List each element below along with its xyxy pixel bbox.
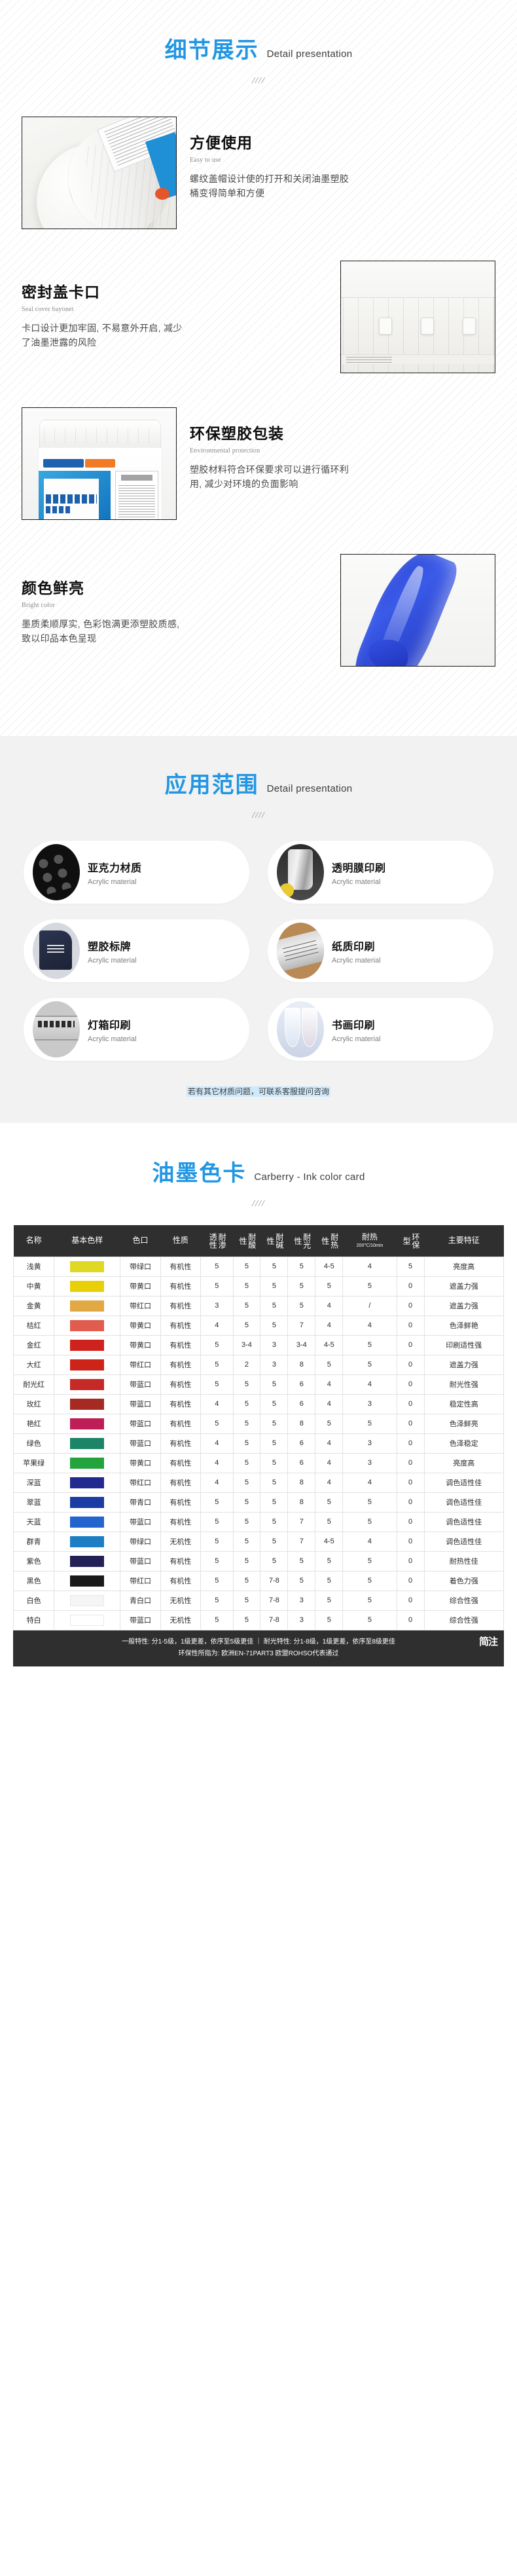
table-cell: 5 [343, 1276, 397, 1296]
table-cell: 0 [397, 1316, 424, 1335]
table-col-header: 主要特征 [424, 1225, 503, 1257]
table-cell: / [343, 1296, 397, 1316]
table-col-header: 耐光性 [288, 1225, 315, 1257]
application-contact-note-text: 若有其它材质问题，可联系客服提问咨询 [187, 1086, 330, 1097]
table-cell: 带红口 [120, 1571, 160, 1591]
table-cell: 7-8 [260, 1591, 288, 1610]
main-feature-cell: 耐热性佳 [424, 1551, 503, 1571]
table-cell: 4 [315, 1473, 343, 1492]
table-cell: 5 [233, 1394, 260, 1414]
color-name-cell: 紫色 [14, 1551, 54, 1571]
table-col-header: 耐酸性 [233, 1225, 260, 1257]
table-cell: 0 [397, 1394, 424, 1414]
table-cell: 8 [288, 1355, 315, 1374]
color-swatch [70, 1575, 104, 1587]
table-cell: 5 [233, 1414, 260, 1433]
table-col-header: 基本色样 [54, 1225, 120, 1257]
color-swatch [70, 1379, 104, 1390]
color-swatch [70, 1359, 104, 1371]
table-row: 浅黄带绿口有机性55554-545亮度高 [14, 1257, 504, 1276]
ink-color-table: 名称基本色样色口性质耐渗透性耐酸性耐碱性耐光性耐热性耐热200℃/10min环保… [13, 1225, 504, 1630]
footnote-line-2: 环保性所指为: 欧洲EN-71PART3 欧盟ROHSO代表通过 [17, 1648, 500, 1660]
table-cell: 4-5 [315, 1335, 343, 1355]
table-col-header: 耐热性 [315, 1225, 343, 1257]
table-cell: 5 [315, 1355, 343, 1374]
table-cell: 有机性 [160, 1414, 200, 1433]
table-row: 翠蓝带青口有机性5558550调色适性佳 [14, 1492, 504, 1512]
table-cell: 3 [343, 1394, 397, 1414]
table-cell: 带黄口 [120, 1276, 160, 1296]
table-row: 深蓝带红口有机性4558440调色适性佳 [14, 1473, 504, 1492]
color-name-cell: 大红 [14, 1355, 54, 1374]
table-cell: 5 [315, 1276, 343, 1296]
main-feature-cell: 耐光性强 [424, 1374, 503, 1394]
ink-color-table-head: 名称基本色样色口性质耐渗透性耐酸性耐碱性耐光性耐热性耐热200℃/10min环保… [14, 1225, 504, 1257]
table-cell: 5 [233, 1296, 260, 1316]
table-cell: 5 [288, 1571, 315, 1591]
color-swatch [70, 1399, 104, 1410]
table-cell: 5 [233, 1492, 260, 1512]
table-cell: 0 [397, 1276, 424, 1296]
table-cell: 带红口 [120, 1473, 160, 1492]
card-title-en: Acrylic material [88, 878, 142, 886]
table-col-header: 名称 [14, 1225, 54, 1257]
table-cell: 0 [397, 1551, 424, 1571]
table-cell: 5 [201, 1492, 233, 1512]
main-feature-cell: 稳定性高 [424, 1394, 503, 1414]
card-title-en: Acrylic material [332, 878, 386, 886]
table-cell: 8 [288, 1492, 315, 1512]
blue-ink-stroke-photo [340, 554, 495, 667]
table-row: 紫色带蓝口有机性5555550耐热性佳 [14, 1551, 504, 1571]
color-name-cell: 翠蓝 [14, 1492, 54, 1512]
table-cell: 5 [260, 1276, 288, 1296]
table-cell: 5 [260, 1257, 288, 1276]
carpoly-ink-bucket-photo [22, 407, 177, 520]
table-cell: 4 [315, 1394, 343, 1414]
color-name-cell: 中黄 [14, 1276, 54, 1296]
table-cell: 5 [233, 1257, 260, 1276]
table-cell: 4 [343, 1473, 397, 1492]
apply-section-header: 应用范围 Detail presentation //// [0, 774, 517, 821]
table-row: 金红带黄口有机性53-433-44-550印刷适性强 [14, 1335, 504, 1355]
table-cell: 3 [343, 1453, 397, 1473]
white-screw-lid-photo [22, 117, 177, 229]
table-cell: 5 [315, 1492, 343, 1512]
main-feature-cell: 遮盖力强 [424, 1355, 503, 1374]
colorcard-slash-ornament: //// [0, 1199, 517, 1209]
acrylic-keypad-thumb [33, 844, 80, 900]
card-title-cn: 纸质印刷 [332, 938, 381, 953]
color-name-cell: 金黄 [14, 1296, 54, 1316]
table-cell: 有机性 [160, 1551, 200, 1571]
table-row: 玫红带蓝口有机性4556430稳定性高 [14, 1394, 504, 1414]
table-cell: 5 [233, 1571, 260, 1591]
main-feature-cell: 亮度高 [424, 1257, 503, 1276]
table-cell: 5 [343, 1492, 397, 1512]
color-swatch-cell [54, 1492, 120, 1512]
table-cell: 带蓝口 [120, 1610, 160, 1630]
table-cell: 有机性 [160, 1276, 200, 1296]
table-cell: 4 [343, 1532, 397, 1551]
table-cell: 5 [260, 1453, 288, 1473]
color-swatch-cell [54, 1296, 120, 1316]
table-cell: 0 [397, 1512, 424, 1532]
apply-slash-ornament: //// [0, 811, 517, 821]
table-cell: 4 [315, 1453, 343, 1473]
color-name-cell: 艳红 [14, 1414, 54, 1433]
table-cell: 6 [288, 1453, 315, 1473]
table-cell: 4 [315, 1433, 343, 1453]
table-row: 群青带绿口无机性55574-540调色适性佳 [14, 1532, 504, 1551]
table-cell: 5 [233, 1433, 260, 1453]
table-cell: 有机性 [160, 1355, 200, 1374]
detail-presentation-section: 细节展示 Detail presentation //// 方便使用 Easy … [0, 0, 517, 736]
detail-item-title-cn: 方便使用 [190, 135, 495, 151]
table-cell: 5 [260, 1512, 288, 1532]
table-cell: 带红口 [120, 1296, 160, 1316]
table-cell: 5 [343, 1414, 397, 1433]
table-cell: 3-4 [233, 1335, 260, 1355]
table-cell: 5 [288, 1257, 315, 1276]
table-cell: 5 [201, 1512, 233, 1532]
application-card-transparent-film-printing[interactable]: 透明膜印刷 Acrylic material [268, 841, 493, 904]
table-cell: 带蓝口 [120, 1433, 160, 1453]
table-cell: 5 [233, 1551, 260, 1571]
color-swatch [70, 1458, 104, 1469]
color-swatch-cell [54, 1414, 120, 1433]
table-cell: 7-8 [260, 1571, 288, 1591]
table-cell: 0 [397, 1571, 424, 1591]
table-cell: 4 [201, 1433, 233, 1453]
table-cell: 4 [201, 1453, 233, 1473]
table-cell: 3 [260, 1335, 288, 1355]
detail-item-title-en: Easy to use [190, 156, 495, 164]
detail-item-easy-to-use: 方便使用 Easy to use 螺纹盖帽设计使的打开和关闭油墨塑胶桶变得简单和… [0, 117, 517, 229]
table-cell: 带蓝口 [120, 1414, 160, 1433]
table-cell: 5 [201, 1335, 233, 1355]
table-cell: 4 [343, 1374, 397, 1394]
color-name-cell: 群青 [14, 1532, 54, 1551]
table-row: 黑色带红口有机性557-85550着色力强 [14, 1571, 504, 1591]
table-col-header-subnote: 200℃/10min [344, 1243, 396, 1249]
table-cell: 5 [201, 1276, 233, 1296]
table-cell: 5 [233, 1276, 260, 1296]
colorcard-section-header: 油墨色卡 Carberry - Ink color card //// [0, 1162, 517, 1209]
card-title-en: Acrylic material [88, 957, 137, 965]
table-cell: 5 [201, 1571, 233, 1591]
detail-item-body: 塑胶材料符合环保要求可以进行循环利用, 减少对环境的负面影响 [190, 463, 357, 491]
table-cell: 带青口 [120, 1492, 160, 1512]
detail-item-title-cn: 密封盖卡口 [22, 284, 327, 301]
table-cell: 5 [233, 1453, 260, 1473]
table-row: 苹果绿带黄口有机性4556430亮度高 [14, 1453, 504, 1473]
detail-item-bright-color: 颜色鲜亮 Bright color 墨质柔顺厚实, 色彩饱满更添塑胶质感, 致以… [0, 554, 517, 667]
card-title-cn: 透明膜印刷 [332, 859, 386, 875]
table-cell: 5 [343, 1571, 397, 1591]
color-name-cell: 桔红 [14, 1316, 54, 1335]
table-cell: 0 [397, 1492, 424, 1512]
table-cell: 有机性 [160, 1257, 200, 1276]
table-cell: 8 [288, 1473, 315, 1492]
table-cell: 0 [397, 1591, 424, 1610]
main-feature-cell: 色泽鲜艳 [424, 1316, 503, 1335]
table-cell: 0 [397, 1453, 424, 1473]
color-name-cell: 玫红 [14, 1394, 54, 1414]
table-col-header: 耐碱性 [260, 1225, 288, 1257]
table-cell: 5 [397, 1257, 424, 1276]
table-cell: 5 [288, 1551, 315, 1571]
table-cell: 0 [397, 1610, 424, 1630]
main-feature-cell: 印刷适性强 [424, 1335, 503, 1355]
table-row: 绿色带蓝口有机性4556430色泽稳定 [14, 1433, 504, 1453]
main-feature-cell: 综合性强 [424, 1591, 503, 1610]
table-row: 金黄带红口有机性35554/0遮盖力强 [14, 1296, 504, 1316]
detail-item-title-en: Seal cover bayonet [22, 306, 327, 313]
card-title-cn: 书画印刷 [332, 1016, 381, 1032]
color-name-cell: 浅黄 [14, 1257, 54, 1276]
color-swatch [70, 1340, 104, 1351]
color-swatch-cell [54, 1316, 120, 1335]
table-cell: 6 [288, 1394, 315, 1414]
table-cell: 5 [260, 1414, 288, 1433]
table-cell: 5 [201, 1610, 233, 1630]
table-cell: 3 [201, 1296, 233, 1316]
table-cell: 5 [343, 1551, 397, 1571]
detail-item-title-cn: 颜色鲜亮 [22, 580, 327, 597]
steel-tumbler-thumb [277, 844, 324, 900]
table-cell: 5 [343, 1355, 397, 1374]
table-cell: 带蓝口 [120, 1512, 160, 1532]
table-cell: 5 [233, 1512, 260, 1532]
table-row: 中黄带黄口有机性5555550遮盖力强 [14, 1276, 504, 1296]
footnote-line-1: 一般特性: 分1-5级，1级更差，依序至5级更佳 ｜ 耐光特性: 分1-8级，1… [17, 1636, 500, 1648]
application-card-acrylic-material[interactable]: 亚克力材质 Acrylic material [24, 841, 249, 904]
table-cell: 青白口 [120, 1591, 160, 1610]
table-cell: 5 [315, 1571, 343, 1591]
ink-color-table-wrap: 名称基本色样色口性质耐渗透性耐酸性耐碱性耐光性耐热性耐热200℃/10min环保… [0, 1225, 517, 1681]
table-cell: 有机性 [160, 1335, 200, 1355]
main-feature-cell: 调色适性佳 [424, 1532, 503, 1551]
ink-color-table-body: 浅黄带绿口有机性55554-545亮度高中黄带黄口有机性5555550遮盖力强金… [14, 1257, 504, 1630]
table-cell: 5 [233, 1532, 260, 1551]
application-card-lightbox-printing[interactable]: 灯箱印刷 Acrylic material [24, 998, 249, 1061]
detail-item-body: 墨质柔顺厚实, 色彩饱满更添塑胶质感, 致以印品本色呈现 [22, 617, 188, 646]
table-cell: 5 [260, 1394, 288, 1414]
detail-item-body: 螺纹盖帽设计使的打开和关闭油墨塑胶桶变得简单和方便 [190, 172, 357, 200]
table-cell: 5 [260, 1492, 288, 1512]
table-cell: 5 [343, 1610, 397, 1630]
main-feature-cell: 亮度高 [424, 1453, 503, 1473]
table-cell: 5 [201, 1257, 233, 1276]
color-swatch [70, 1438, 104, 1449]
table-cell: 5 [288, 1296, 315, 1316]
table-cell: 7 [288, 1316, 315, 1335]
table-cell: 5 [315, 1551, 343, 1571]
color-swatch [70, 1517, 104, 1528]
color-swatch-cell [54, 1512, 120, 1532]
color-swatch [70, 1497, 104, 1508]
detail-section-header: 细节展示 Detail presentation //// [0, 39, 517, 86]
table-row: 艳红带蓝口有机性5558550色泽鲜亮 [14, 1414, 504, 1433]
table-col-header: 耐热200℃/10min [343, 1225, 397, 1257]
table-cell: 带黄口 [120, 1316, 160, 1335]
main-feature-cell: 色泽鲜亮 [424, 1414, 503, 1433]
color-name-cell: 金红 [14, 1335, 54, 1355]
table-cell: 5 [201, 1374, 233, 1394]
main-feature-cell: 调色适性佳 [424, 1473, 503, 1492]
table-cell: 无机性 [160, 1532, 200, 1551]
table-cell: 带绿口 [120, 1257, 160, 1276]
table-cell: 5 [260, 1296, 288, 1316]
detail-item-environmental-protection: 环保塑胶包装 Environmental protection 塑胶材料符合环保… [0, 407, 517, 520]
table-cell: 5 [233, 1316, 260, 1335]
table-header-row: 名称基本色样色口性质耐渗透性耐酸性耐碱性耐光性耐热性耐热200℃/10min环保… [14, 1225, 504, 1257]
color-swatch-cell [54, 1335, 120, 1355]
table-cell: 0 [397, 1335, 424, 1355]
table-cell: 4-5 [315, 1532, 343, 1551]
color-swatch-cell [54, 1453, 120, 1473]
apply-title-cn: 应用范围 [165, 774, 259, 796]
detail-slash-ornament: //// [0, 76, 517, 86]
card-title-cn: 亚克力材质 [88, 859, 142, 875]
table-col-header: 耐渗透性 [201, 1225, 233, 1257]
table-cell: 4 [315, 1296, 343, 1316]
table-cell: 3 [288, 1591, 315, 1610]
application-card-art-printing[interactable]: 书画印刷 Acrylic material [268, 998, 493, 1061]
table-row: 桔红带黄口有机性4557440色泽鲜艳 [14, 1316, 504, 1335]
table-cell: 带蓝口 [120, 1551, 160, 1571]
table-cell: 有机性 [160, 1512, 200, 1532]
table-cell: 0 [397, 1296, 424, 1316]
wine-glasses-thumb [277, 1001, 324, 1058]
table-cell: 5 [260, 1473, 288, 1492]
table-cell: 4 [201, 1316, 233, 1335]
color-swatch-cell [54, 1355, 120, 1374]
main-feature-cell: 遮盖力强 [424, 1296, 503, 1316]
color-swatch-cell [54, 1551, 120, 1571]
application-card-paper-printing[interactable]: 纸质印刷 Acrylic material [268, 919, 493, 982]
table-cell: 5 [315, 1512, 343, 1532]
sign-plate-thumb [33, 1001, 80, 1058]
table-cell: 7 [288, 1532, 315, 1551]
table-cell: 5 [201, 1532, 233, 1551]
table-cell: 8 [288, 1414, 315, 1433]
main-feature-cell: 综合性强 [424, 1610, 503, 1630]
footnote-corner-mark: 简注 [479, 1633, 497, 1651]
table-cell: 5 [315, 1414, 343, 1433]
detail-title-en: Detail presentation [267, 48, 353, 62]
table-cell: 有机性 [160, 1296, 200, 1316]
main-feature-cell: 调色适性佳 [424, 1512, 503, 1532]
table-cell: 带蓝口 [120, 1374, 160, 1394]
detail-item-title-en: Bright color [22, 602, 327, 609]
table-cell: 5 [343, 1512, 397, 1532]
color-swatch [70, 1477, 104, 1488]
metal-nameplate-thumb [277, 923, 324, 979]
table-cell: 4 [343, 1257, 397, 1276]
table-cell: 5 [343, 1335, 397, 1355]
table-cell: 6 [288, 1433, 315, 1453]
table-cell: 带黄口 [120, 1453, 160, 1473]
apply-title-en: Detail presentation [267, 783, 353, 796]
table-row: 耐光红带蓝口有机性5556440耐光性强 [14, 1374, 504, 1394]
table-col-header: 色口 [120, 1225, 160, 1257]
table-cell: 5 [201, 1551, 233, 1571]
color-swatch-cell [54, 1571, 120, 1591]
table-cell: 5 [260, 1532, 288, 1551]
main-feature-cell: 着色力强 [424, 1571, 503, 1591]
color-swatch-cell [54, 1394, 120, 1414]
color-swatch [70, 1615, 104, 1626]
table-cell: 带绿口 [120, 1532, 160, 1551]
table-col-header: 性质 [160, 1225, 200, 1257]
table-cell: 4 [343, 1316, 397, 1335]
table-cell: 0 [397, 1355, 424, 1374]
table-cell: 3 [288, 1610, 315, 1630]
color-swatch [70, 1300, 104, 1312]
table-cell: 4 [315, 1374, 343, 1394]
table-cell: 5 [315, 1591, 343, 1610]
table-cell: 有机性 [160, 1453, 200, 1473]
table-cell: 2 [233, 1355, 260, 1374]
table-cell: 5 [233, 1610, 260, 1630]
table-cell: 5 [233, 1374, 260, 1394]
table-cell: 5 [260, 1374, 288, 1394]
ink-color-table-footnotes: 一般特性: 分1-5级，1级更差，依序至5级更佳 ｜ 耐光特性: 分1-8级，1… [13, 1630, 504, 1666]
table-cell: 带黄口 [120, 1335, 160, 1355]
table-cell: 带蓝口 [120, 1394, 160, 1414]
table-cell: 5 [288, 1276, 315, 1296]
application-scope-section: 应用范围 Detail presentation //// 亚克力材质 Acry… [0, 736, 517, 1123]
table-cell: 有机性 [160, 1492, 200, 1512]
color-swatch [70, 1418, 104, 1429]
table-cell: 7 [288, 1512, 315, 1532]
table-cell: 7-8 [260, 1610, 288, 1630]
color-swatch [70, 1536, 104, 1547]
color-swatch [70, 1281, 104, 1292]
color-swatch-cell [54, 1276, 120, 1296]
color-swatch [70, 1261, 104, 1272]
table-row: 特白带蓝口无机性557-83550综合性强 [14, 1610, 504, 1630]
color-name-cell: 特白 [14, 1610, 54, 1630]
main-feature-cell: 调色适性佳 [424, 1492, 503, 1512]
color-swatch [70, 1595, 104, 1606]
color-name-cell: 苹果绿 [14, 1453, 54, 1473]
detail-item-title-en: Environmental protection [190, 447, 495, 454]
application-card-plastic-sign[interactable]: 塑胶标牌 Acrylic material [24, 919, 249, 982]
color-swatch-cell [54, 1473, 120, 1492]
table-cell: 5 [233, 1473, 260, 1492]
color-name-cell: 深蓝 [14, 1473, 54, 1492]
table-cell: 4 [315, 1316, 343, 1335]
detail-item-title-cn: 环保塑胶包装 [190, 426, 495, 442]
table-cell: 有机性 [160, 1473, 200, 1492]
table-cell: 5 [233, 1591, 260, 1610]
bayonet-ring-photo [340, 261, 495, 373]
colorcard-title-cn: 油墨色卡 [152, 1162, 246, 1185]
main-feature-cell: 遮盖力强 [424, 1276, 503, 1296]
color-name-cell: 黑色 [14, 1571, 54, 1591]
color-name-cell: 天蓝 [14, 1512, 54, 1532]
color-swatch-cell [54, 1374, 120, 1394]
color-swatch-cell [54, 1532, 120, 1551]
color-name-cell: 白色 [14, 1591, 54, 1610]
printed-mugs-thumb [33, 923, 80, 979]
table-cell: 5 [260, 1433, 288, 1453]
table-cell: 有机性 [160, 1394, 200, 1414]
table-cell: 0 [397, 1374, 424, 1394]
